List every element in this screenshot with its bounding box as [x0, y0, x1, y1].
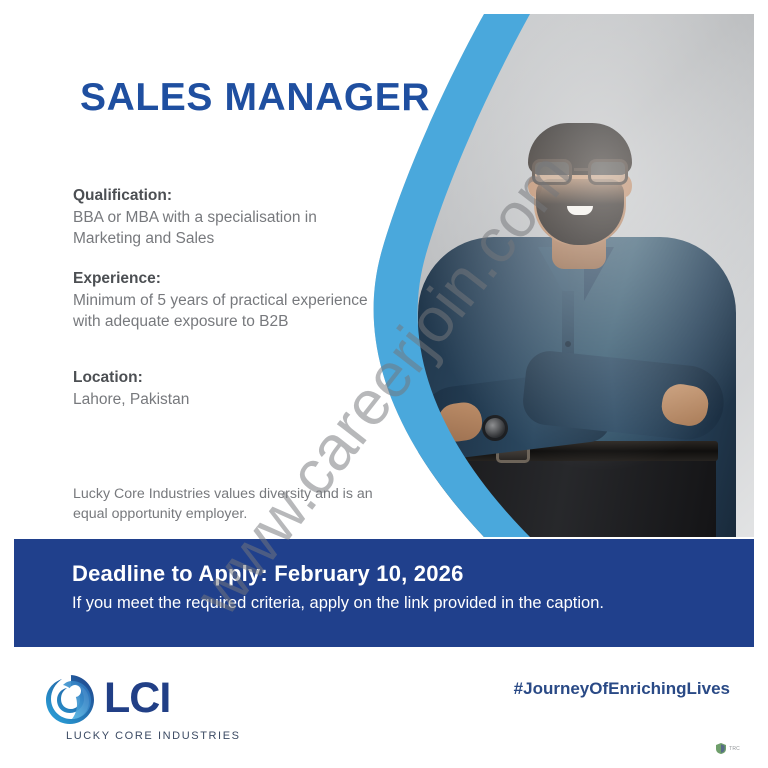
qualification-block: Qualification: BBA or MBA with a special… [73, 187, 373, 249]
campaign-hashtag: #JourneyOfEnrichingLives [514, 679, 730, 699]
company-logo: LCI LUCKY CORE INDUSTRIES [42, 672, 272, 742]
qualification-label: Qualification: [73, 187, 373, 205]
lci-swirl-icon [42, 672, 98, 728]
page-title: SALES MANAGER [80, 76, 430, 120]
deadline-text: Deadline to Apply: February 10, 2026 [72, 561, 464, 587]
job-advertisement-poster: SALES MANAGER Qualification: BBA or MBA … [0, 0, 768, 768]
shield-icon [716, 743, 726, 754]
equal-opportunity-statement: Lucky Core Industries values diversity a… [73, 484, 373, 524]
logo-lci-text: LCI [104, 674, 170, 723]
location-block: Location: Lahore, Pakistan [73, 369, 373, 411]
experience-block: Experience: Minimum of 5 years of practi… [73, 270, 373, 332]
experience-value: Minimum of 5 years of practical experien… [73, 291, 373, 332]
qualification-value: BBA or MBA with a specialisation in Mark… [73, 208, 373, 249]
logo-subtitle: LUCKY CORE INDUSTRIES [66, 730, 241, 742]
badge-text: TRC [729, 746, 740, 752]
deadline-banner: Deadline to Apply: February 10, 2026 If … [14, 539, 754, 647]
certification-badge: TRC [716, 743, 740, 754]
experience-label: Experience: [73, 270, 373, 288]
location-value: Lahore, Pakistan [73, 390, 373, 411]
poster-top-card: SALES MANAGER Qualification: BBA or MBA … [14, 14, 754, 537]
location-label: Location: [73, 369, 373, 387]
poster-footer: LCI LUCKY CORE INDUSTRIES #JourneyOfEnri… [0, 647, 768, 768]
apply-instruction-text: If you meet the required criteria, apply… [72, 594, 604, 613]
